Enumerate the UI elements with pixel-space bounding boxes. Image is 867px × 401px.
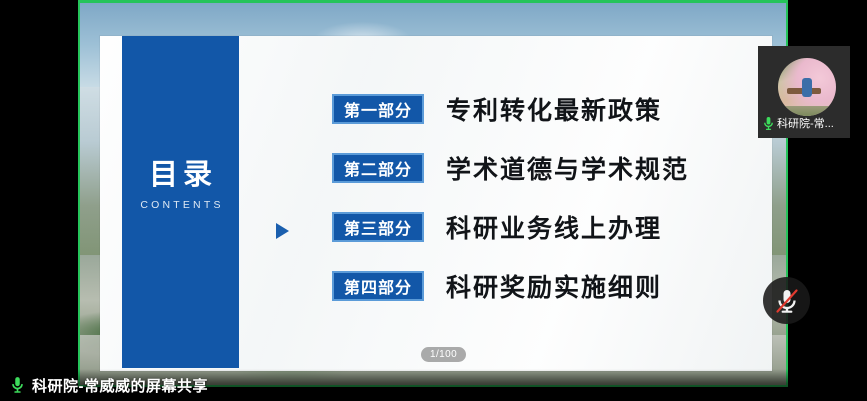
mute-microphone-button[interactable] [763, 277, 810, 324]
presentation-slide: 目录 CONTENTS 第一部分 专利转化最新政策 第二部分 学术道德与学术规范… [100, 36, 772, 371]
participant-name: 科研院-常... [777, 115, 834, 131]
slide-page-indicator: 1/100 [421, 347, 466, 362]
contents-item[interactable]: 第二部分 学术道德与学术规范 [332, 153, 742, 183]
contents-item-label: 科研业务线上办理 [446, 209, 662, 245]
participant-video-tile[interactable]: 科研院-常... [758, 46, 850, 138]
play-triangle-icon [276, 223, 289, 239]
avatar [778, 58, 836, 116]
contents-subtitle: CONTENTS [122, 199, 239, 211]
contents-item-badge: 第三部分 [332, 212, 424, 242]
contents-item[interactable]: 第三部分 科研业务线上办理 [332, 212, 742, 242]
contents-list: 第一部分 专利转化最新政策 第二部分 学术道德与学术规范 第三部分 科研业务线上… [332, 94, 742, 301]
contents-sidebar-panel: 目录 CONTENTS [122, 36, 239, 368]
shared-screen-region[interactable]: 目录 CONTENTS 第一部分 专利转化最新政策 第二部分 学术道德与学术规范… [78, 0, 788, 387]
meeting-screen-share-view: 目录 CONTENTS 第一部分 专利转化最新政策 第二部分 学术道德与学术规范… [0, 0, 867, 401]
contents-item-badge: 第一部分 [332, 94, 424, 124]
microphone-on-icon [762, 116, 775, 131]
contents-item-badge: 第四部分 [332, 271, 424, 301]
contents-item-label: 学术道德与学术规范 [446, 150, 689, 186]
contents-item-badge: 第二部分 [332, 153, 424, 183]
avatar-figure [802, 78, 811, 98]
contents-item-label: 科研奖励实施细则 [446, 268, 662, 304]
contents-item-label: 专利转化最新政策 [446, 91, 662, 127]
contents-heading-block: 目录 CONTENTS [122, 160, 239, 211]
microphone-on-icon [10, 376, 25, 394]
contents-title: 目录 [122, 160, 239, 190]
screen-share-status-label: 科研院-常威威的屏幕共享 [32, 375, 208, 396]
contents-item[interactable]: 第四部分 科研奖励实施细则 [332, 271, 742, 301]
participant-name-row: 科研院-常... [762, 115, 846, 131]
contents-item[interactable]: 第一部分 专利转化最新政策 [332, 94, 742, 124]
microphone-muted-icon [774, 287, 800, 315]
bottom-status-bar: 科研院-常威威的屏幕共享 [0, 369, 867, 401]
